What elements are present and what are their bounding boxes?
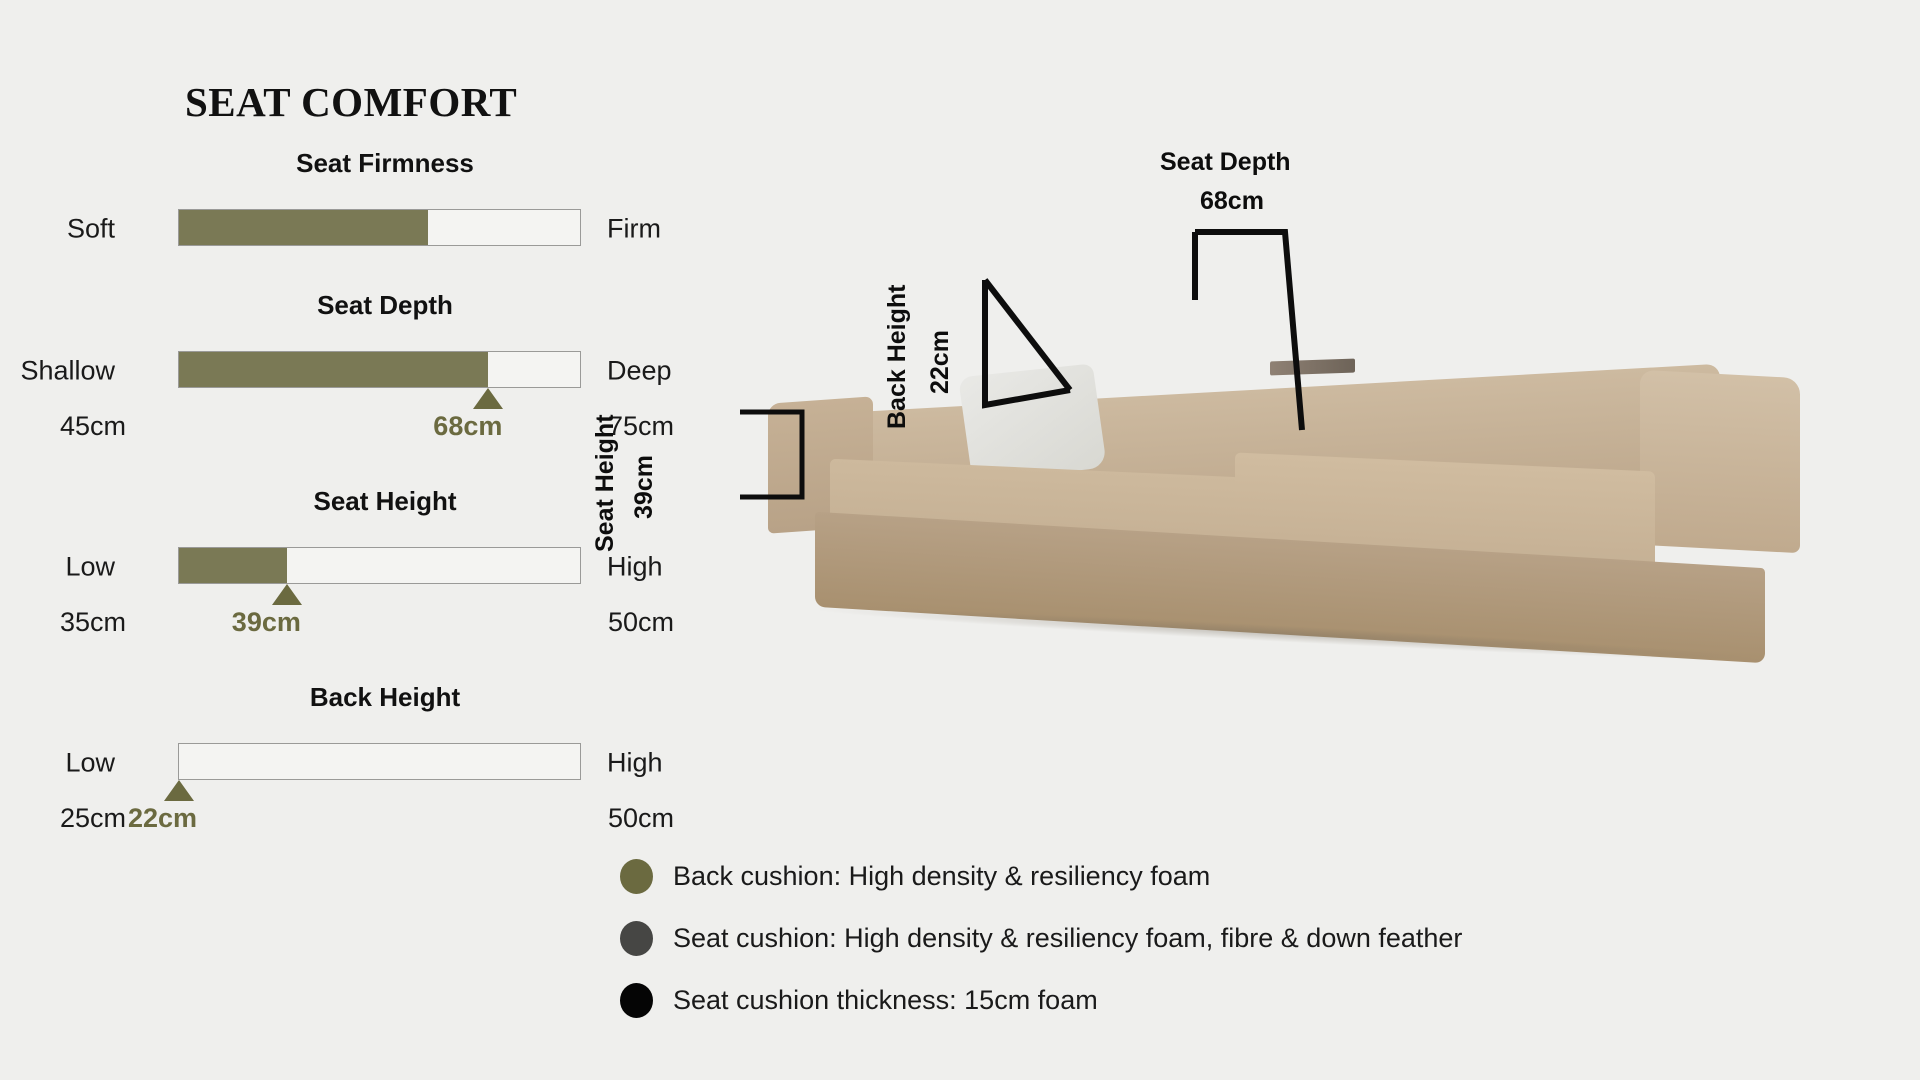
legend-item: Seat cushion: High density & resiliency … (620, 907, 1910, 969)
legend-item-label: Seat cushion thickness: 15cm foam (673, 985, 1098, 1016)
range-max-label-seat-height: High (607, 552, 663, 583)
bar-marker-back-height (164, 780, 194, 801)
current-value-seat-depth: 68cm (433, 411, 502, 442)
annotation-seat-height-value: 39cm (630, 455, 659, 519)
bar-row-seat-firmness: Soft Firm (0, 209, 760, 249)
metric-seat-firmness: Seat Firmness Soft Firm (0, 148, 760, 249)
bar-row-seat-height: Low High (0, 547, 760, 587)
sofa-arm-right (1640, 370, 1800, 553)
page-title: SEAT COMFORT (185, 78, 517, 126)
bar-track-seat-depth[interactable] (178, 351, 581, 388)
legend-item-label: Back cushion: High density & resiliency … (673, 861, 1210, 892)
legend-swatch-icon (620, 983, 653, 1018)
bar-fill-seat-height (179, 548, 287, 583)
values-row-back-height: 25cm 22cm 50cm (0, 803, 760, 841)
min-value-seat-depth: 45cm (60, 411, 126, 442)
current-value-back-height: 22cm (128, 803, 197, 834)
metric-title-seat-depth: Seat Depth (65, 290, 705, 321)
bar-row-seat-depth: Shallow Deep (0, 351, 760, 391)
annotation-back-height-value: 22cm (926, 330, 955, 394)
bar-marker-seat-height (272, 584, 302, 605)
min-value-seat-height: 35cm (60, 607, 126, 638)
range-min-label-seat-height: Low (65, 552, 115, 583)
legend-item: Seat cushion thickness: 15cm foam (620, 969, 1910, 1031)
sofa-pillow (958, 363, 1107, 481)
legend-item-label: Seat cushion: High density & resiliency … (673, 923, 1462, 954)
materials-legend: Back cushion: High density & resiliency … (620, 845, 1910, 1031)
annotation-seat-depth-value: 68cm (1200, 187, 1264, 216)
annotation-back-height-name: Back Height (883, 285, 912, 429)
seat-comfort-infographic: SEAT COMFORT Seat Firmness Soft Firm Sea… (0, 0, 1920, 1080)
sofa-image (760, 390, 1920, 700)
legend-swatch-icon (620, 921, 653, 956)
bar-track-seat-firmness[interactable] (178, 209, 581, 246)
legend-item: Back cushion: High density & resiliency … (620, 845, 1910, 907)
legend-swatch-icon (620, 859, 653, 894)
current-value-seat-height: 39cm (232, 607, 301, 638)
range-min-label-seat-firmness: Soft (67, 214, 115, 245)
range-max-label-seat-firmness: Firm (607, 214, 661, 245)
range-min-label-back-height: Low (65, 748, 115, 779)
bar-fill-seat-firmness (179, 210, 428, 245)
bar-fill-seat-depth (179, 352, 488, 387)
range-max-label-back-height: High (607, 748, 663, 779)
metric-title-seat-firmness: Seat Firmness (65, 148, 705, 179)
bar-track-seat-height[interactable] (178, 547, 581, 584)
range-max-label-seat-depth: Deep (607, 356, 672, 387)
max-value-seat-height: 50cm (608, 607, 674, 638)
metric-seat-depth: Seat Depth Shallow Deep 45cm 68cm 75cm (0, 290, 760, 449)
annotation-seat-depth-name: Seat Depth (1160, 148, 1291, 177)
annotation-seat-height-name: Seat Height (591, 414, 620, 552)
metric-title-back-height: Back Height (65, 682, 705, 713)
metric-back-height: Back Height Low High 25cm 22cm 50cm (0, 682, 760, 841)
bar-row-back-height: Low High (0, 743, 760, 783)
bar-marker-seat-depth (473, 388, 503, 409)
max-value-back-height: 50cm (608, 803, 674, 834)
values-row-seat-depth: 45cm 68cm 75cm (0, 411, 760, 449)
sofa-tray (1270, 359, 1355, 376)
min-value-back-height: 25cm (60, 803, 126, 834)
range-min-label-seat-depth: Shallow (20, 356, 115, 387)
bar-track-back-height[interactable] (178, 743, 581, 780)
values-row-seat-height: 35cm 39cm 50cm (0, 607, 760, 645)
